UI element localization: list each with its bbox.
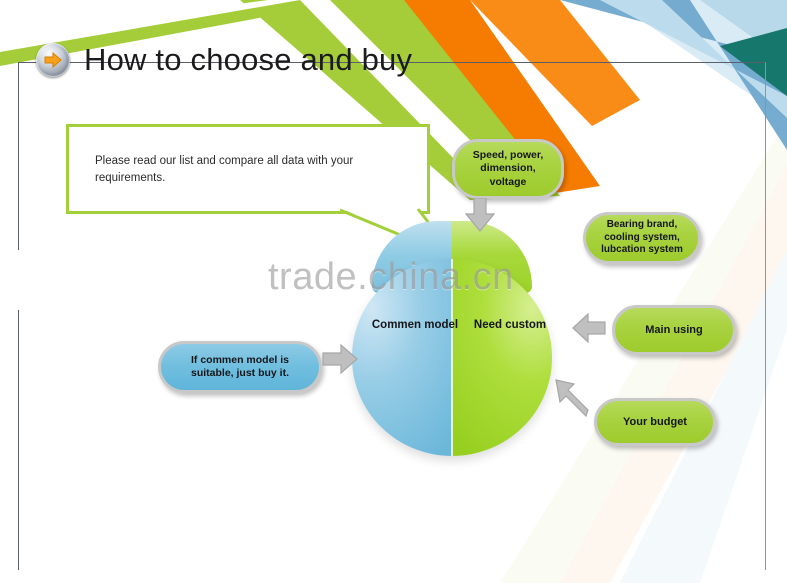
- box-commen-model-label: If commen model is suitable, just buy it…: [169, 354, 311, 381]
- pie-chart: [352, 221, 552, 456]
- box-bearing-label: Bearing brand, cooling system, lubcation…: [594, 219, 690, 257]
- frame-gap: [14, 250, 24, 310]
- box-main-using[interactable]: Main using: [612, 305, 736, 355]
- box-speed-label: Speed, power, dimension, voltage: [463, 149, 553, 189]
- pie-slice-need-custom: [452, 259, 552, 456]
- box-your-budget[interactable]: Your budget: [594, 398, 716, 446]
- box-speed-power-dimension-voltage[interactable]: Speed, power, dimension, voltage: [452, 139, 564, 199]
- box-main-using-label: Main using: [645, 323, 702, 337]
- pie-divider: [451, 259, 453, 456]
- callout-bubble: Please read our list and compare all dat…: [66, 124, 430, 214]
- pie-body: [352, 259, 552, 456]
- pie-slice-commen-model: [352, 259, 452, 456]
- circle-arrow-right-icon: [36, 43, 70, 77]
- slide-canvas: How to choose and buy Please read our li…: [0, 0, 787, 583]
- pie-label-commen-model: Commen model: [370, 318, 460, 333]
- box-commen-model-suitable[interactable]: If commen model is suitable, just buy it…: [158, 341, 322, 393]
- box-your-budget-label: Your budget: [623, 415, 687, 429]
- page-title-text: How to choose and buy: [84, 42, 412, 78]
- box-bearing-cooling-lubrication[interactable]: Bearing brand, cooling system, lubcation…: [583, 212, 701, 264]
- pie-label-need-custom: Need custom: [465, 318, 555, 333]
- page-title: How to choose and buy: [36, 42, 412, 78]
- callout-text: Please read our list and compare all dat…: [95, 153, 395, 186]
